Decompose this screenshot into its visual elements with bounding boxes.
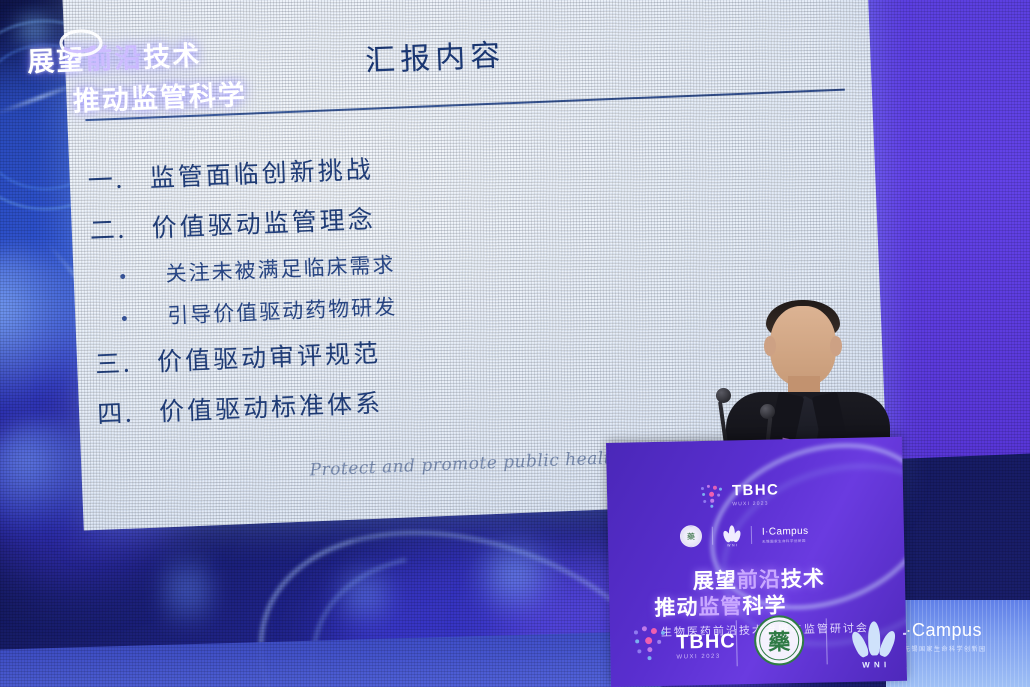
tbhc-wordmark: TBHC bbox=[732, 482, 780, 498]
outline-item-number: 三. bbox=[94, 342, 157, 380]
podium-partner-logo-row: 藥 W N I I·Campus 无锡国家生命科学创新园 bbox=[680, 523, 809, 548]
microphone-head-icon bbox=[760, 404, 775, 419]
tbhc-location-year: WUXI 2023 bbox=[732, 500, 779, 507]
podium-panel: TBHC WUXI 2023 藥 W N I I·Campus bbox=[606, 437, 907, 687]
green-pharmacy-seal-icon: 藥 bbox=[754, 615, 805, 666]
tbhc-dot-matrix-icon-large bbox=[632, 624, 673, 665]
seal-inner-ring bbox=[759, 620, 800, 661]
icampus-wall-panel: I·Campus 无锡国家生命科学创新园 bbox=[886, 600, 1030, 687]
outline-item-number: 二. bbox=[89, 209, 152, 247]
tbhc-wordmark-large: TBHC bbox=[676, 630, 736, 654]
lotus-wni-logo-icon: W N I bbox=[723, 524, 741, 546]
outline-item-text: 价值驱动标准体系 bbox=[158, 383, 383, 428]
podium-tbhc-logo: TBHC WUXI 2023 bbox=[699, 481, 780, 509]
speaker-figure bbox=[726, 300, 890, 460]
outline-item-text: 价值驱动监管理念 bbox=[151, 200, 376, 245]
icampus-logo: I·Campus 无锡国家生命科学创新园 bbox=[762, 525, 809, 543]
lotus-label-large: W N I bbox=[847, 660, 903, 670]
speaker-head bbox=[770, 306, 836, 386]
slide-outline-list: 一. 监管面临创新挑战 二. 价值驱动监管理念 • 关注未被满足临床需求 • 引… bbox=[87, 133, 798, 445]
bullet-dot-icon: • bbox=[91, 266, 166, 289]
outline-sub-text: 引导价值驱动药物研发 bbox=[167, 291, 398, 330]
outline-item-text: 监管面临创新挑战 bbox=[149, 150, 374, 195]
headline-segment-e: 监管 bbox=[698, 595, 742, 619]
outline-sub-text: 关注未被满足临床需求 bbox=[165, 249, 396, 288]
outline-item-text: 价值驱动审评规范 bbox=[156, 334, 381, 379]
lotus-label: W N I bbox=[723, 543, 741, 547]
slide-footer-tagline: Protect and promote public health bbox=[309, 448, 623, 481]
conference-stage-scene: 汇报内容 一. 监管面临创新挑战 二. 价值驱动监管理念 • 关注未被满足临床需… bbox=[0, 0, 1030, 687]
outline-item-number: 四. bbox=[96, 392, 159, 430]
speaker-ear-left bbox=[764, 336, 776, 356]
bullet-dot-icon: • bbox=[93, 308, 168, 331]
icampus-panel-subtitle: 无锡国家生命科学创新园 bbox=[904, 644, 987, 653]
logo-divider bbox=[712, 527, 713, 545]
podium-bottom-tbhc-logo: TBHC WUXI 2023 bbox=[632, 622, 736, 664]
speaker-ear-right bbox=[830, 336, 842, 356]
slide-title: 汇报内容 bbox=[364, 30, 506, 80]
headline-segment-d: 推动 bbox=[654, 596, 698, 620]
bg-orb-7 bbox=[160, 540, 215, 640]
tbhc-location-year-large: WUXI 2023 bbox=[676, 653, 736, 660]
green-seal-logo-icon: 藥 bbox=[680, 525, 702, 547]
outline-sub-list: • 关注未被满足临床需求 • 引导价值驱动药物研发 bbox=[91, 233, 793, 333]
icampus-wordmark: I·Campus bbox=[762, 525, 809, 537]
lotus-wni-logo-icon-large: W N I bbox=[846, 613, 903, 670]
icampus-subtitle: 无锡国家生命科学创新园 bbox=[762, 537, 809, 543]
bg-orb-5 bbox=[470, 530, 560, 620]
bg-orb-6 bbox=[330, 560, 400, 630]
outline-item-number: 一. bbox=[87, 159, 150, 197]
slide-title-divider bbox=[85, 89, 844, 121]
seal-glyph: 藥 bbox=[687, 531, 695, 542]
bg-orb-3 bbox=[14, 10, 54, 50]
logo-divider bbox=[751, 526, 752, 544]
tbhc-dot-matrix-icon bbox=[699, 483, 726, 510]
icampus-panel-wordmark: I·Campus bbox=[900, 620, 982, 641]
